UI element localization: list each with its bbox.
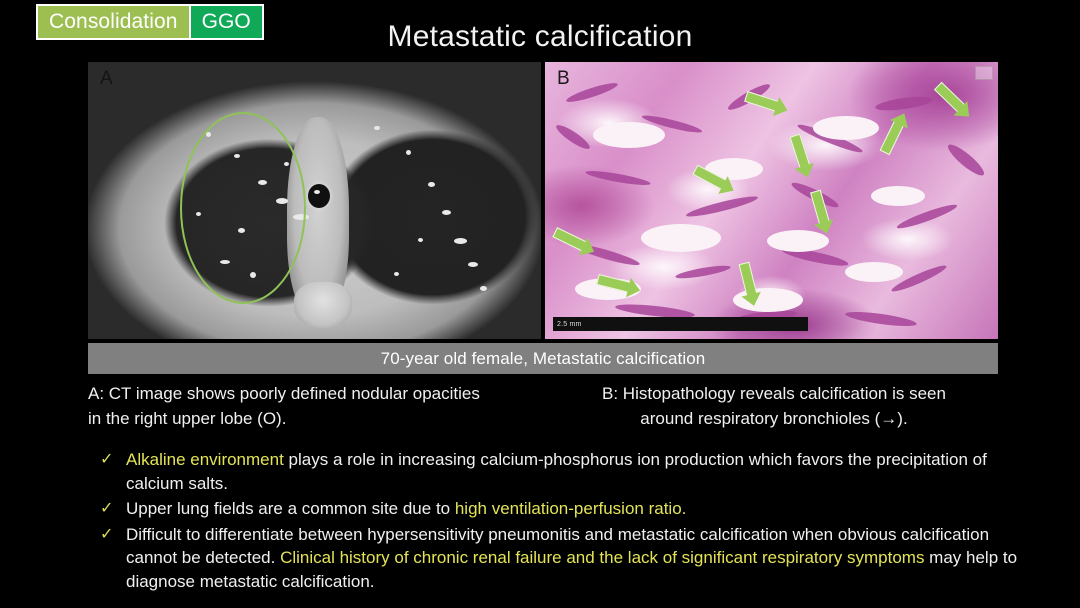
scale-bar-label: 2.5 mm	[553, 321, 582, 328]
ct-roi-circle	[180, 112, 306, 304]
check-icon: ✓	[100, 497, 113, 521]
panel-b-description: B: Histopathology reveals calcification …	[550, 381, 998, 431]
check-icon: ✓	[100, 448, 113, 472]
panel-b-description-line2: around respiratory bronchioles (→).	[550, 406, 998, 431]
bullet-item: ✓ Difficult to differentiate between hyp…	[100, 523, 1044, 594]
panel-a-description: A: CT image shows poorly defined nodular…	[88, 381, 550, 431]
figure-panel-b: 2.5 mm B	[545, 62, 998, 339]
histo-corner-marker	[975, 66, 993, 80]
panel-descriptions: A: CT image shows poorly defined nodular…	[88, 381, 998, 431]
bullet-list: ✓ Alkaline environment plays a role in i…	[100, 448, 1044, 595]
bullet-highlight: Alkaline environment	[126, 450, 284, 469]
figure-caption-text: 70-year old female, Metastatic calcifica…	[381, 349, 706, 369]
figure-panel-a: A	[88, 62, 541, 339]
bullet-text: Difficult to differentiate between hyper…	[126, 525, 1017, 591]
slide: Consolidation GGO Metastatic calcificati…	[0, 0, 1080, 608]
bullet-text: Upper lung fields are a common site due …	[126, 499, 686, 518]
bullet-item: ✓ Alkaline environment plays a role in i…	[100, 448, 1044, 495]
scale-bar: 2.5 mm	[553, 317, 808, 331]
check-icon: ✓	[100, 523, 113, 547]
bullet-highlight: high ventilation-perfusion ratio.	[455, 499, 687, 518]
bullet-highlight: Clinical history of chronic renal failur…	[280, 548, 924, 567]
panel-a-description-line2: in the right upper lobe (O).	[88, 406, 550, 431]
bullet-text: Alkaline environment plays a role in inc…	[126, 450, 987, 493]
ct-vessel-markings	[88, 62, 541, 339]
page-title: Metastatic calcification	[0, 20, 1080, 54]
figure-caption-bar: 70-year old female, Metastatic calcifica…	[88, 343, 998, 374]
panel-b-description-line1: B: Histopathology reveals calcification …	[602, 384, 946, 403]
figure-row: A	[88, 62, 998, 339]
bullet-plain: Upper lung fields are a common site due …	[126, 499, 455, 518]
bullet-item: ✓ Upper lung fields are a common site du…	[100, 497, 1044, 521]
panel-a-description-line1: A: CT image shows poorly defined nodular…	[88, 384, 480, 403]
